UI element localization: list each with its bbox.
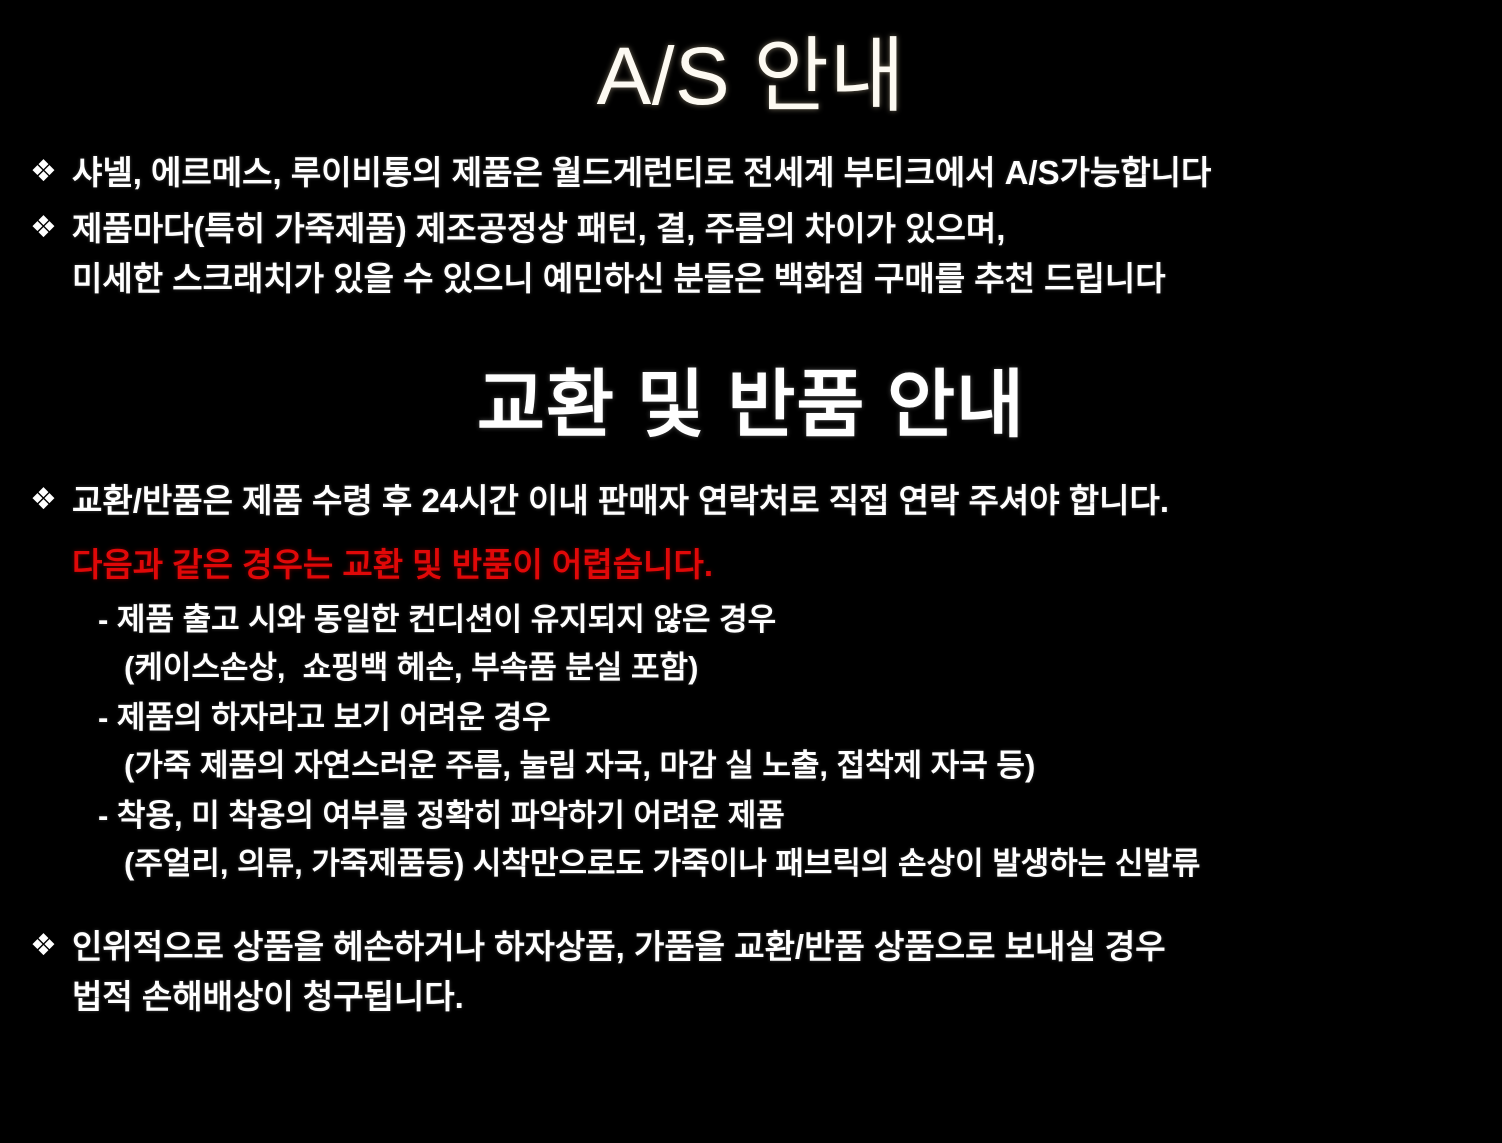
as-bullet-1: ❖ 샤넬, 에르메스, 루이비통의 제품은 월드게런티로 전세계 부티크에서 A… <box>30 148 1476 198</box>
as-bullet-2-line-1: 제품마다(특히 가죽제품) 제조공정상 패턴, 결, 주름의 차이가 있으며, <box>72 204 1476 254</box>
exclusion-item-3-detail-line: (주얼리, 의류, 가죽제품등) 시착만으로도 가죽이나 패브릭의 손상이 발생… <box>98 840 1476 888</box>
exchange-contact-requirement-text: 교환/반품은 제품 수령 후 24시간 이내 판매자 연락처로 직접 연락 주셔… <box>72 476 1476 526</box>
as-bullet-1-body: 샤넬, 에르메스, 루이비통의 제품은 월드게런티로 전세계 부티크에서 A/S… <box>72 148 1476 198</box>
diamond-bullet-icon: ❖ <box>30 148 72 196</box>
as-bullet-2: ❖ 제품마다(특히 가죽제품) 제조공정상 패턴, 결, 주름의 차이가 있으며… <box>30 204 1476 304</box>
exchange-warning-text: 다음과 같은 경우는 교환 및 반품이 어렵습니다. <box>72 540 1476 590</box>
slide-root: A/S 안내 ❖ 샤넬, 에르메스, 루이비통의 제품은 월드게런티로 전세계 … <box>0 0 1502 1143</box>
exclusion-item-2-dash-line: - 제품의 하자라고 보기 어려운 경우 <box>98 694 1476 742</box>
damage-liability-line-2: 법적 손해배상이 청구됩니다. <box>72 972 1476 1022</box>
exclusion-item-1-detail-line: (케이스손상, 쇼핑백 헤손, 부속품 분실 포함) <box>98 644 1476 692</box>
as-bullet-1-line-1: 샤넬, 에르메스, 루이비통의 제품은 월드게런티로 전세계 부티크에서 A/S… <box>72 148 1476 198</box>
diamond-bullet-icon: ❖ <box>30 476 72 524</box>
as-bullet-2-line-2: 미세한 스크래치가 있을 수 있으니 예민하신 분들은 백화점 구매를 추천 드… <box>72 254 1476 304</box>
exchange-bullet-2-body: 인위적으로 상품을 헤손하거나 하자상품, 가품을 교환/반품 상품으로 보내실… <box>72 922 1476 1022</box>
exclusion-item-2: - 제품의 하자라고 보기 어려운 경우 (가죽 제품의 자연스러운 주름, 눌… <box>98 694 1476 790</box>
damage-liability-line-1: 인위적으로 상품을 헤손하거나 하자상품, 가품을 교환/반품 상품으로 보내실… <box>72 922 1476 972</box>
exchange-bullet-2: ❖ 인위적으로 상품을 헤손하거나 하자상품, 가품을 교환/반품 상품으로 보… <box>30 922 1476 1022</box>
exclusion-item-3: - 착용, 미 착용의 여부를 정확히 파악하기 어려운 제품 (주얼리, 의류… <box>98 792 1476 888</box>
spacer <box>30 896 1476 922</box>
as-section-body: ❖ 샤넬, 에르메스, 루이비통의 제품은 월드게런티로 전세계 부티크에서 A… <box>0 148 1502 304</box>
exchange-bullet-1: ❖ 교환/반품은 제품 수령 후 24시간 이내 판매자 연락처로 직접 연락 … <box>30 476 1476 890</box>
exclusion-item-1-dash-line: - 제품 출고 시와 동일한 컨디션이 유지되지 않은 경우 <box>98 596 1476 644</box>
diamond-bullet-icon: ❖ <box>30 204 72 252</box>
exclusion-item-2-detail-line: (가죽 제품의 자연스러운 주름, 눌림 자국, 마감 실 노출, 접착제 자국… <box>98 742 1476 790</box>
diamond-bullet-icon: ❖ <box>30 922 72 970</box>
as-bullet-2-body: 제품마다(특히 가죽제품) 제조공정상 패턴, 결, 주름의 차이가 있으며, … <box>72 204 1476 304</box>
exchange-section-heading: 교환 및 반품 안내 <box>0 310 1502 476</box>
exchange-section-body: ❖ 교환/반품은 제품 수령 후 24시간 이내 판매자 연락처로 직접 연락 … <box>0 476 1502 1022</box>
exclusion-item-1: - 제품 출고 시와 동일한 컨디션이 유지되지 않은 경우 (케이스손상, 쇼… <box>98 596 1476 692</box>
exchange-bullet-1-body: 교환/반품은 제품 수령 후 24시간 이내 판매자 연락처로 직접 연락 주셔… <box>72 476 1476 890</box>
as-section-heading: A/S 안내 <box>0 0 1502 118</box>
exclusion-item-3-dash-line: - 착용, 미 착용의 여부를 정확히 파악하기 어려운 제품 <box>98 792 1476 840</box>
spacer <box>72 526 1476 540</box>
exchange-exclusion-list: - 제품 출고 시와 동일한 컨디션이 유지되지 않은 경우 (케이스손상, 쇼… <box>72 590 1476 888</box>
